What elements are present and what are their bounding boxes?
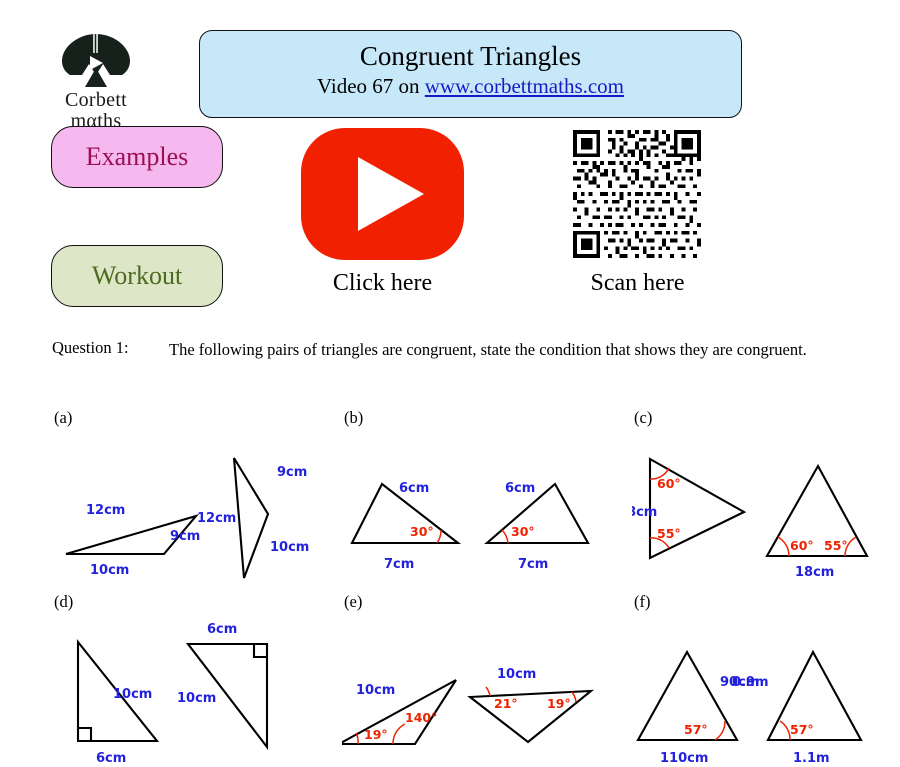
part-a-left-len-3: 10cm (90, 563, 129, 578)
qr-code-icon (573, 130, 701, 258)
part-f-figure: 90cm 57° 110cm 0.9m 57° 1.1m (632, 610, 900, 767)
part-b-left-angle: 30° (410, 524, 434, 539)
part-c-figure: 18cm 60° 55° 60° 55° 18cm (632, 426, 900, 583)
part-c-right-angle-2: 55° (824, 538, 848, 553)
examples-button[interactable]: Examples (51, 126, 223, 188)
part-d-left-right-angle-mark (78, 728, 91, 741)
part-f-right-angle-arc (780, 721, 790, 740)
workout-button[interactable]: Workout (51, 245, 223, 307)
part-b-right-len-2: 7cm (518, 557, 548, 572)
part-a-figure: 12cm 9cm 10cm 9cm 12cm 10cm (52, 426, 337, 583)
part-a-right-len-1: 9cm (277, 465, 307, 480)
part-e-right-angle-1: 21° (494, 696, 518, 711)
part-f-left-angle-arc (715, 721, 725, 740)
part-f-label: (f) (634, 592, 650, 612)
part-b-left-angle-arc (437, 530, 441, 543)
part-e-left-angle-2: 140° (405, 710, 437, 725)
part-e-left-angle-arc-2 (393, 724, 405, 744)
part-e-right-angle-arc-1 (486, 687, 490, 696)
part-d-figure: 10cm 6cm 6cm 10cm (52, 610, 337, 767)
part-c-right-angle-1: 60° (790, 538, 814, 553)
play-icon (358, 157, 424, 231)
part-e-label: (e) (344, 592, 362, 612)
part-c-right-angle-arc-1 (778, 537, 789, 556)
part-c-left-angle-1: 60° (657, 476, 681, 491)
part-b-right-angle: 30° (511, 524, 535, 539)
part-c-right-triangle (767, 466, 867, 556)
part-f-right-angle: 57° (790, 722, 814, 737)
part-d-label: (d) (54, 592, 73, 612)
part-b-label: (b) (344, 408, 363, 428)
click-here-caption: Click here (301, 270, 464, 297)
part-a-label: (a) (54, 408, 72, 428)
video-prefix: Video 67 on (317, 74, 425, 98)
part-d-right-len-2: 10cm (177, 691, 216, 706)
part-a-right-len-2: 12cm (197, 511, 236, 526)
part-c-label: (c) (634, 408, 652, 428)
part-b-left-len-2: 7cm (384, 557, 414, 572)
part-a-left-len-1: 12cm (86, 503, 125, 518)
part-d-left-len-1: 10cm (113, 687, 152, 702)
part-b-right-angle-arc (502, 530, 508, 543)
part-e-figure: 10cm 19° 140° 10cm 21° 19° (342, 610, 627, 767)
part-d: (d) 10cm 6cm 6cm 10cm (52, 592, 337, 767)
part-a-left-len-2: 9cm (170, 529, 200, 544)
part-b: (b) 6cm 7cm 30° 6cm 7cm 30° (342, 408, 627, 583)
part-f-right-triangle (768, 652, 861, 740)
part-d-right-right-angle-mark (254, 644, 267, 657)
part-e-right-angle-2: 19° (547, 696, 571, 711)
corbettmaths-logo-icon (50, 30, 142, 90)
part-c-right-len-1: 18cm (795, 565, 834, 580)
part-e: (e) 10cm 19° 140° 10cm 21° 19° (342, 592, 627, 767)
part-d-right-len-1: 6cm (207, 622, 237, 637)
part-b-right-len-1: 6cm (505, 481, 535, 496)
corbettmaths-logo-block: Corbett mαths (50, 30, 142, 132)
part-e-right-triangle (470, 691, 591, 742)
part-e-left-len-1: 10cm (356, 683, 395, 698)
title-banner: Congruent Triangles Video 67 on www.corb… (199, 30, 742, 118)
part-a-right-len-3: 10cm (270, 540, 309, 555)
page-title: Congruent Triangles (200, 40, 741, 73)
video-reference: Video 67 on www.corbettmaths.com (200, 73, 741, 99)
part-e-left-angle-1: 19° (364, 727, 388, 742)
part-b-figure: 6cm 7cm 30° 6cm 7cm 30° (342, 426, 627, 583)
play-video-button[interactable] (301, 128, 464, 260)
question-number: Question 1: (52, 338, 129, 358)
part-b-right-triangle (487, 484, 588, 543)
scan-here-caption: Scan here (565, 270, 710, 297)
part-e-right-len-1: 10cm (497, 667, 536, 682)
part-c-left-len-1: 18cm (632, 505, 657, 520)
part-a-right-triangle (234, 458, 268, 578)
corbettmaths-link[interactable]: www.corbettmaths.com (425, 74, 624, 98)
question-text: The following pairs of triangles are con… (169, 338, 859, 361)
part-e-right-angle-arc-2 (572, 692, 576, 702)
part-f-left-angle: 57° (684, 722, 708, 737)
part-b-left-len-1: 6cm (399, 481, 429, 496)
part-a: (a) 12cm 9cm 10cm 9cm 12cm 10cm (52, 408, 337, 583)
part-f: (f) 90cm 57° 110cm 0.9m 57° 1.1m (632, 592, 900, 767)
part-f-right-len-1: 0.9m (732, 675, 769, 690)
part-c: (c) 18cm 60° 55° 60° 55° 18cm (632, 408, 900, 583)
part-c-left-angle-2: 55° (657, 526, 681, 541)
logo-text-line1: Corbett (50, 90, 142, 111)
